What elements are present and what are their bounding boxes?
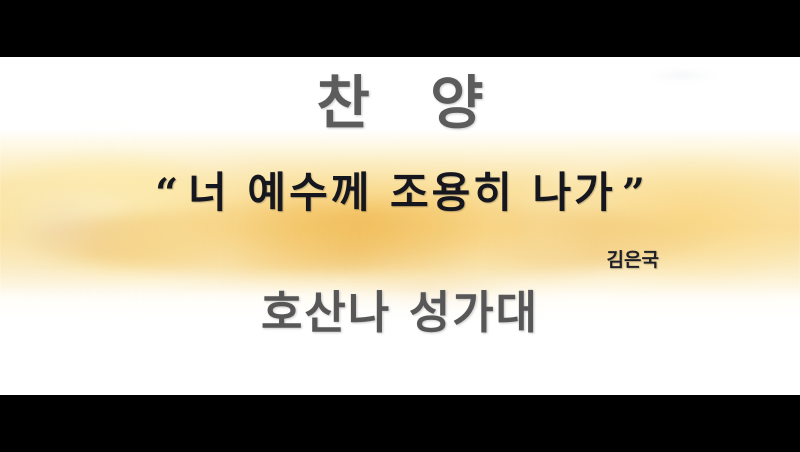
praise-heading: 찬 양 [0, 73, 800, 134]
quote-close-mark: ” [622, 170, 645, 217]
slide-content: 찬 양 “너 예수께 조용히 나가” 김은국 호산나 성가대 [0, 57, 800, 395]
quote-open-mark: “ [155, 170, 178, 217]
letterbox-bar-top [0, 0, 800, 57]
composer-name: 김은국 [0, 245, 800, 272]
letterbox-bar-bottom [0, 395, 800, 452]
choir-name: 호산나 성가대 [0, 288, 800, 338]
presentation-slide: 찬 양 “너 예수께 조용히 나가” 김은국 호산나 성가대 [0, 57, 800, 395]
song-title-text: 너 예수께 조용히 나가 [188, 168, 616, 217]
video-frame: 찬 양 “너 예수께 조용히 나가” 김은국 호산나 성가대 [0, 0, 800, 452]
song-title: “너 예수께 조용히 나가” [0, 170, 800, 216]
